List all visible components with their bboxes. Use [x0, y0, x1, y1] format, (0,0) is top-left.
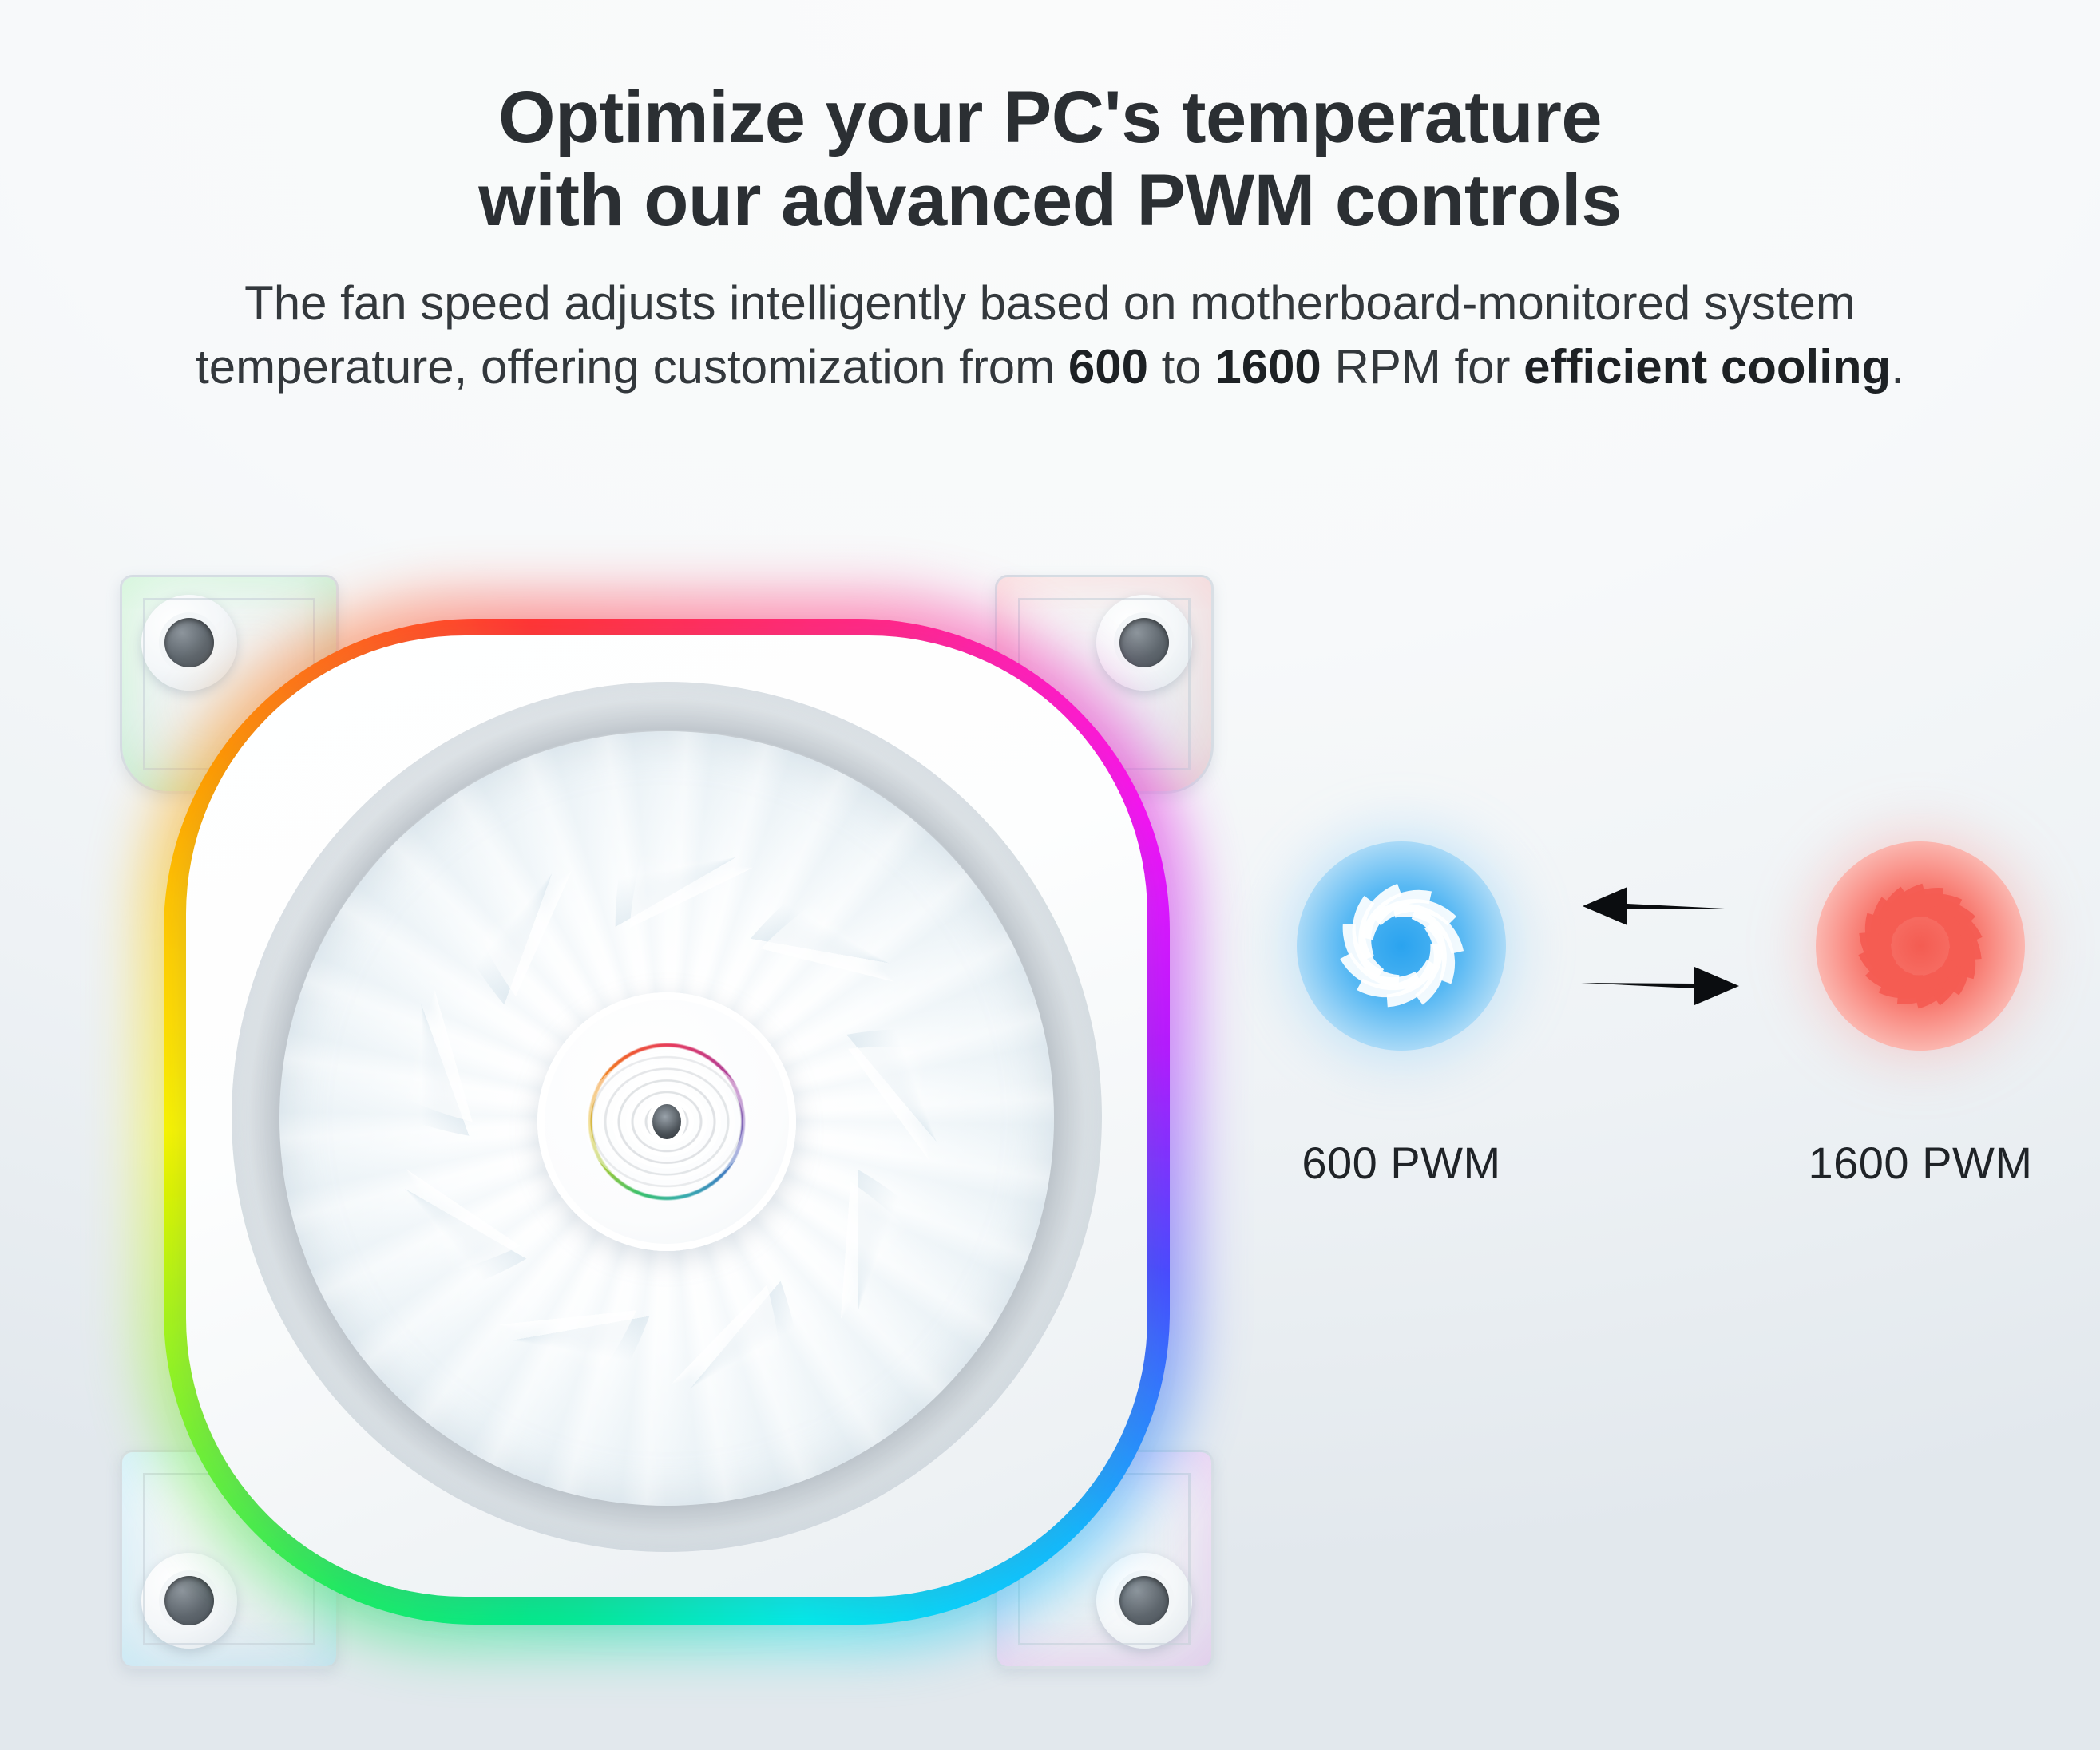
arrow-left-icon: [1581, 884, 1741, 928]
high-speed-fan-icon: [1789, 814, 2052, 1078]
header: Optimize your PC's temperature with our …: [0, 0, 2100, 399]
fan-hub: [537, 992, 796, 1251]
subheading-copy: The fan speed adjusts intelligently base…: [144, 271, 1956, 399]
screw-hole-icon: [141, 595, 237, 691]
product-stage: 600 PWM 1600 PWM: [0, 551, 2100, 1748]
screw-hole-icon: [141, 1553, 237, 1649]
pwm-labels-row: 600 PWM 1600 PWM: [1270, 1137, 2052, 1189]
fan-swirl-icon: [1797, 822, 2044, 1070]
bidirectional-arrows: [1577, 884, 1745, 1008]
fan-swirl-icon: [1278, 822, 1525, 1070]
hub-center-dot: [652, 1104, 681, 1139]
headline-line-2: with our advanced PWM controls: [132, 160, 1968, 243]
headline-line-1: Optimize your PC's temperature: [498, 77, 1602, 158]
page-title: Optimize your PC's temperature with our …: [132, 77, 1968, 243]
subcopy-segment-3: RPM for: [1321, 340, 1523, 394]
high-speed-label: 1600 PWM: [1789, 1137, 2052, 1189]
efficiency-emphasis: efficient cooling: [1523, 340, 1891, 394]
pwm-comparison: 600 PWM 1600 PWM: [1270, 814, 2052, 1189]
screw-hole-icon: [1096, 1553, 1192, 1649]
arrow-right-icon: [1581, 964, 1741, 1008]
low-speed-fan-icon: [1270, 814, 1533, 1078]
low-speed-label: 600 PWM: [1270, 1137, 1533, 1189]
subcopy-segment-2: to: [1148, 340, 1214, 394]
fan-product-image: [120, 575, 1214, 1669]
min-rpm-value: 600: [1068, 340, 1148, 394]
max-rpm-value: 1600: [1214, 340, 1321, 394]
subcopy-segment-4: .: [1891, 340, 1904, 394]
screw-hole-icon: [1096, 595, 1192, 691]
pwm-icons-row: [1270, 814, 2052, 1078]
